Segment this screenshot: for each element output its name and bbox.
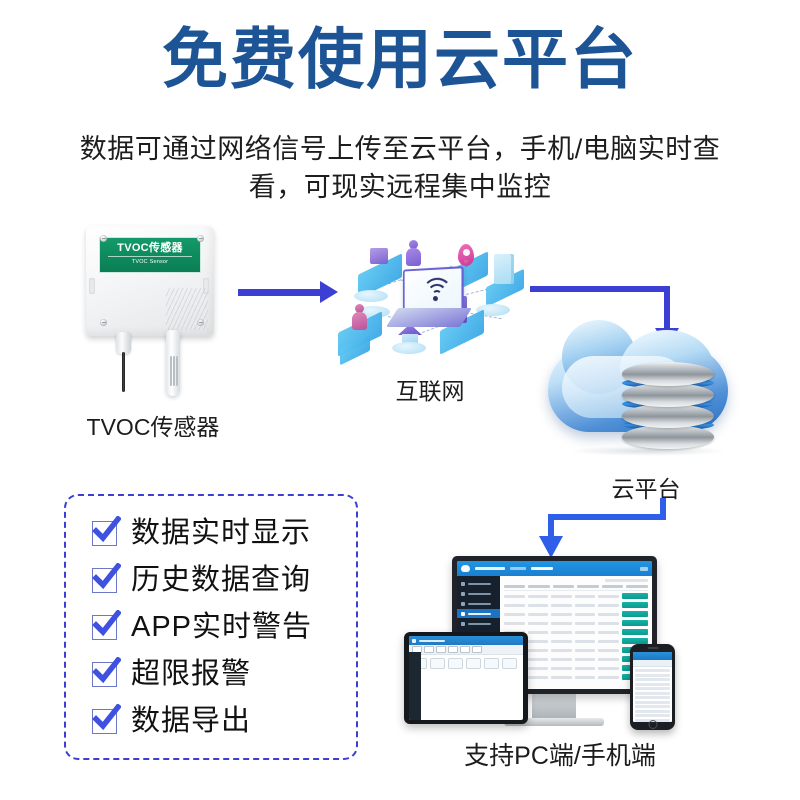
feature-label: 超限报警 [131, 659, 251, 690]
location-pin-icon [458, 244, 474, 266]
monitor-stand [532, 694, 576, 720]
screw-icon [197, 235, 204, 242]
checkmark-icon[interactable] [92, 521, 117, 546]
screw-icon [100, 319, 107, 326]
list-item[interactable]: 数据实时显示 [92, 510, 312, 557]
devices-illustration [404, 548, 704, 744]
feature-label: 数据实时显示 [131, 518, 311, 549]
sidebar-item[interactable] [457, 589, 500, 598]
cloud-logo-icon [461, 565, 470, 572]
tablet-toolbar [409, 645, 523, 655]
list-item[interactable]: APP实时警告 [92, 604, 312, 651]
dashboard-header [457, 561, 652, 576]
dashboard-tab[interactable] [510, 567, 526, 570]
smartphone-device [630, 644, 675, 730]
arrow-internet-to-cloud-v [664, 286, 670, 330]
arrow-cloud-to-devices-v2 [548, 514, 554, 538]
database-icon [622, 362, 714, 454]
sidebar-item[interactable] [457, 579, 500, 588]
building-icon [494, 254, 514, 284]
feature-list-box: 数据实时显示 历史数据查询 APP实时警告 超限报警 [64, 494, 358, 760]
tablet-sidebar [409, 652, 421, 720]
phone-app-subheader [633, 660, 672, 667]
node-disc [354, 290, 388, 302]
sidebar-item[interactable] [457, 619, 500, 628]
mount-tab [203, 278, 209, 294]
page-title: 免费使用云平台 [0, 20, 800, 98]
dashboard-brand [475, 567, 505, 570]
sensor-nameplate-subtitle: TVOC Sensor [100, 259, 200, 266]
list-item[interactable]: 历史数据查询 [92, 557, 312, 604]
sensor-enclosure: TVOC传感器 TVOC Sensor [86, 226, 214, 336]
table-row[interactable] [504, 611, 648, 618]
internet-caption: 互联网 [360, 372, 500, 406]
row-action-button[interactable] [622, 620, 648, 626]
sidebar-item-active[interactable] [457, 609, 500, 618]
sensor-nameplate-rule [108, 256, 192, 257]
sensor-probe [166, 330, 180, 396]
sensor-nameplate: TVOC传感器 TVOC Sensor [99, 237, 201, 273]
table-row[interactable] [504, 593, 648, 600]
feature-label: 历史数据查询 [131, 565, 311, 596]
tablet-content [409, 655, 523, 672]
internet-illustration [330, 238, 530, 368]
sensor-nameplate-title: TVOC传感器 [100, 241, 200, 255]
checkmark-icon[interactable] [92, 615, 117, 640]
feature-label: 数据导出 [131, 706, 251, 737]
user-avatar-icon [406, 240, 421, 266]
laptop-icon [392, 268, 466, 328]
cloud-caption: 云平台 [576, 470, 716, 504]
breadcrumb [605, 579, 648, 582]
row-action-button[interactable] [622, 593, 648, 599]
tablet-device [404, 632, 528, 724]
dashboard-tab-active[interactable] [531, 567, 553, 570]
row-action-button[interactable] [622, 611, 648, 617]
table-row[interactable] [504, 620, 648, 627]
feature-label: APP实时警告 [131, 612, 312, 643]
checkmark-icon[interactable] [92, 709, 117, 734]
row-action-button[interactable] [622, 629, 648, 635]
devices-caption: 支持PC端/手机端 [440, 736, 680, 772]
user-avatar-icon [352, 304, 367, 330]
sidebar-item[interactable] [457, 599, 500, 608]
mount-tab [89, 278, 95, 294]
phone-app-header [633, 652, 672, 660]
row-action-button[interactable] [622, 602, 648, 608]
page-subtitle: 数据可通过网络信号上传至云平台，手机/电脑实时查看，可现实远程集中监控 [60, 130, 740, 206]
tablet-app-header [409, 636, 523, 645]
table-row[interactable] [504, 602, 648, 609]
feature-list: 数据实时显示 历史数据查询 APP实时警告 超限报警 [92, 510, 312, 745]
dashboard-user-menu[interactable] [640, 567, 648, 571]
screw-icon [197, 319, 204, 326]
list-item[interactable]: 超限报警 [92, 651, 312, 698]
phone-list [633, 667, 672, 722]
arrow-cloud-to-devices-h [548, 514, 666, 520]
cloud-platform-illustration [548, 328, 748, 458]
wifi-icon [422, 277, 452, 304]
screw-icon [100, 235, 107, 242]
node-disc [392, 342, 426, 354]
package-icon [370, 248, 388, 264]
tvoc-sensor-illustration: TVOC传感器 TVOC Sensor [78, 222, 228, 397]
arrow-sensor-to-internet-line [238, 289, 322, 296]
sensor-caption: TVOC传感器 [58, 408, 248, 442]
checkmark-icon[interactable] [92, 662, 117, 687]
poster-root: 免费使用云平台 数据可通过网络信号上传至云平台，手机/电脑实时查看，可现实远程集… [0, 0, 800, 800]
list-item[interactable]: 数据导出 [92, 698, 312, 745]
checkmark-icon[interactable] [92, 568, 117, 593]
sensor-cable [122, 352, 125, 392]
cable-gland [116, 332, 131, 354]
arrow-internet-to-cloud-h [530, 286, 670, 292]
